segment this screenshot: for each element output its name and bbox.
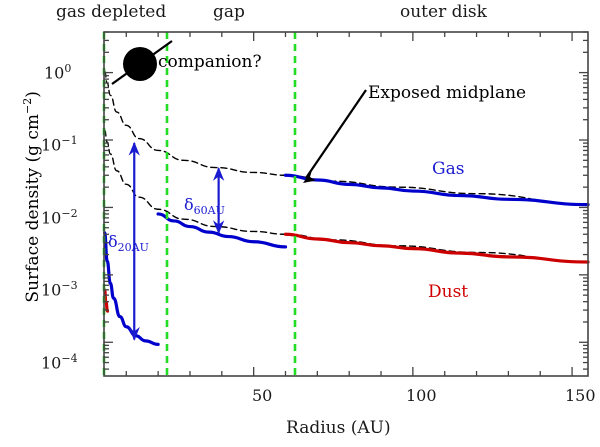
gas-curve-label: Gas [432,159,464,179]
y-tick-label: 10−3 [41,279,78,299]
y-tick-exponent: −2 [61,207,77,220]
y-tick-mantissa: 10 [41,353,61,372]
y-tick-label: 100 [44,62,71,82]
x-tick-label: 100 [406,386,437,405]
y-tick-mantissa: 10 [41,208,61,227]
exposed-midplane-annotation: Exposed midplane [368,83,526,103]
y-tick-mantissa: 10 [41,135,61,154]
y-tick-exponent: 0 [64,62,71,75]
companion-marker-icon [123,47,157,81]
delta-subscript: 20AU [118,241,149,254]
delta-symbol: δ [184,195,194,214]
y-axis-title: Surface density (g cm−2) [21,67,43,327]
companion-annotation: companion? [158,52,262,72]
delta-20au-label: δ20AU [108,232,149,254]
delta-symbol: δ [108,232,118,251]
region-title-outer-disk: outer disk [400,2,487,22]
y-axis-title-close: ) [23,91,43,98]
x-tick-label: 150 [565,386,596,405]
y-axis-title-main: Surface density (g cm [23,114,43,303]
y-tick-label: 10−4 [41,352,78,372]
y-axis-title-exponent: −2 [21,98,34,114]
y-tick-label: 10−2 [41,207,78,227]
y-tick-label: 10−1 [41,134,78,154]
y-tick-exponent: −4 [61,352,77,365]
y-tick-exponent: −1 [61,134,77,147]
y-tick-mantissa: 10 [41,280,61,299]
y-tick-exponent: −3 [61,279,77,292]
figure-canvas: gas depleted gap outer disk Surface dens… [0,0,600,447]
x-tick-label: 50 [252,386,272,405]
surface-density-plot [0,0,600,447]
delta-subscript: 60AU [194,204,225,217]
delta-60au-label: δ60AU [184,195,225,217]
region-title-gas-depleted: gas depleted [56,2,166,22]
region-title-gap: gap [213,2,245,22]
y-tick-mantissa: 10 [44,63,64,82]
dust-curve-label: Dust [428,282,468,302]
x-axis-title: Radius (AU) [286,418,391,438]
